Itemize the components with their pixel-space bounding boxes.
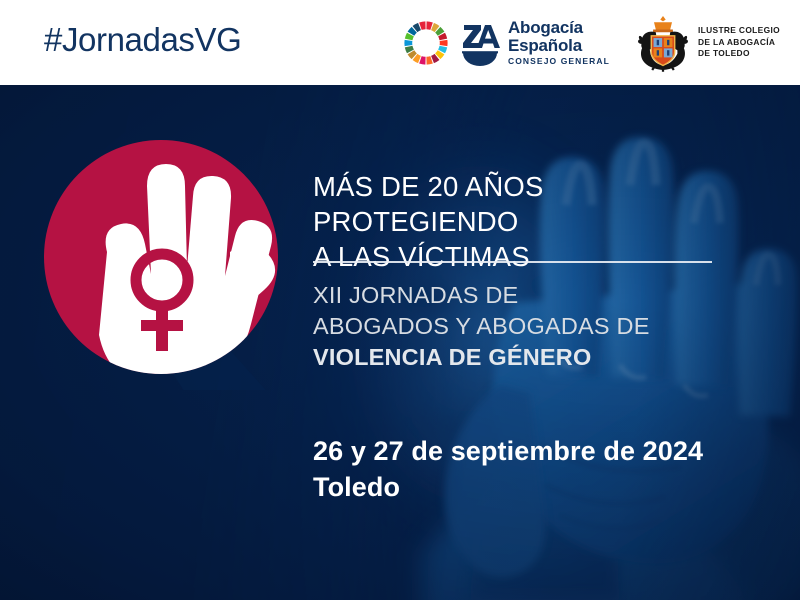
abogacia-espanola-logo: Abogacía Española CONSEJO GENERAL <box>459 19 610 67</box>
abogacia-line2: Española <box>508 37 610 55</box>
toledo-coat-of-arms-icon <box>636 14 690 72</box>
event-date-location: 26 y 27 de septiembre de 2024 Toledo <box>313 433 753 505</box>
logo-group: Abogacía Española CONSEJO GENERAL <box>403 0 792 85</box>
toledo-line3: DE TOLEDO <box>698 48 780 60</box>
toledo-line2: DE LA ABOGACÍA <box>698 37 780 49</box>
abogacia-line1: Abogacía <box>508 19 610 37</box>
abogacia-monogram-icon <box>459 19 501 67</box>
toledo-wordmark: ILUSTRE COLEGIO DE LA ABOGACÍA DE TOLEDO <box>698 25 780 60</box>
sdg-wheel-icon <box>403 20 449 66</box>
subhead-line3: VIOLENCIA DE GÉNERO <box>313 344 591 370</box>
toledo-bar-logo: ILUSTRE COLEGIO DE LA ABOGACÍA DE TOLEDO <box>636 14 780 72</box>
headline: MÁS DE 20 AÑOS PROTEGIENDO A LAS VÍCTIMA… <box>313 169 753 274</box>
event-location: Toledo <box>313 472 400 502</box>
header-bar: #JornadasVG <box>0 0 800 85</box>
poster: #JornadasVG <box>0 0 800 600</box>
toledo-line1: ILUSTRE COLEGIO <box>698 25 780 37</box>
subhead-line2: ABOGADOS Y ABOGADAS DE <box>313 313 650 339</box>
hashtag-label: #JornadasVG <box>44 21 241 59</box>
hand-with-venus-symbol-emblem <box>44 140 294 390</box>
poster-copy: MÁS DE 20 AÑOS PROTEGIENDO A LAS VÍCTIMA… <box>313 85 783 600</box>
divider-rule <box>313 261 712 263</box>
subhead-line1: XII JORNADAS DE <box>313 282 518 308</box>
subheadline: XII JORNADAS DE ABOGADOS Y ABOGADAS DE V… <box>313 280 753 373</box>
abogacia-wordmark: Abogacía Española CONSEJO GENERAL <box>508 19 610 66</box>
headline-line1: MÁS DE 20 AÑOS PROTEGIENDO <box>313 171 544 237</box>
event-date: 26 y 27 de septiembre de 2024 <box>313 436 703 466</box>
abogacia-line3: CONSEJO GENERAL <box>508 57 610 66</box>
headline-line2: A LAS VÍCTIMAS <box>313 241 530 272</box>
